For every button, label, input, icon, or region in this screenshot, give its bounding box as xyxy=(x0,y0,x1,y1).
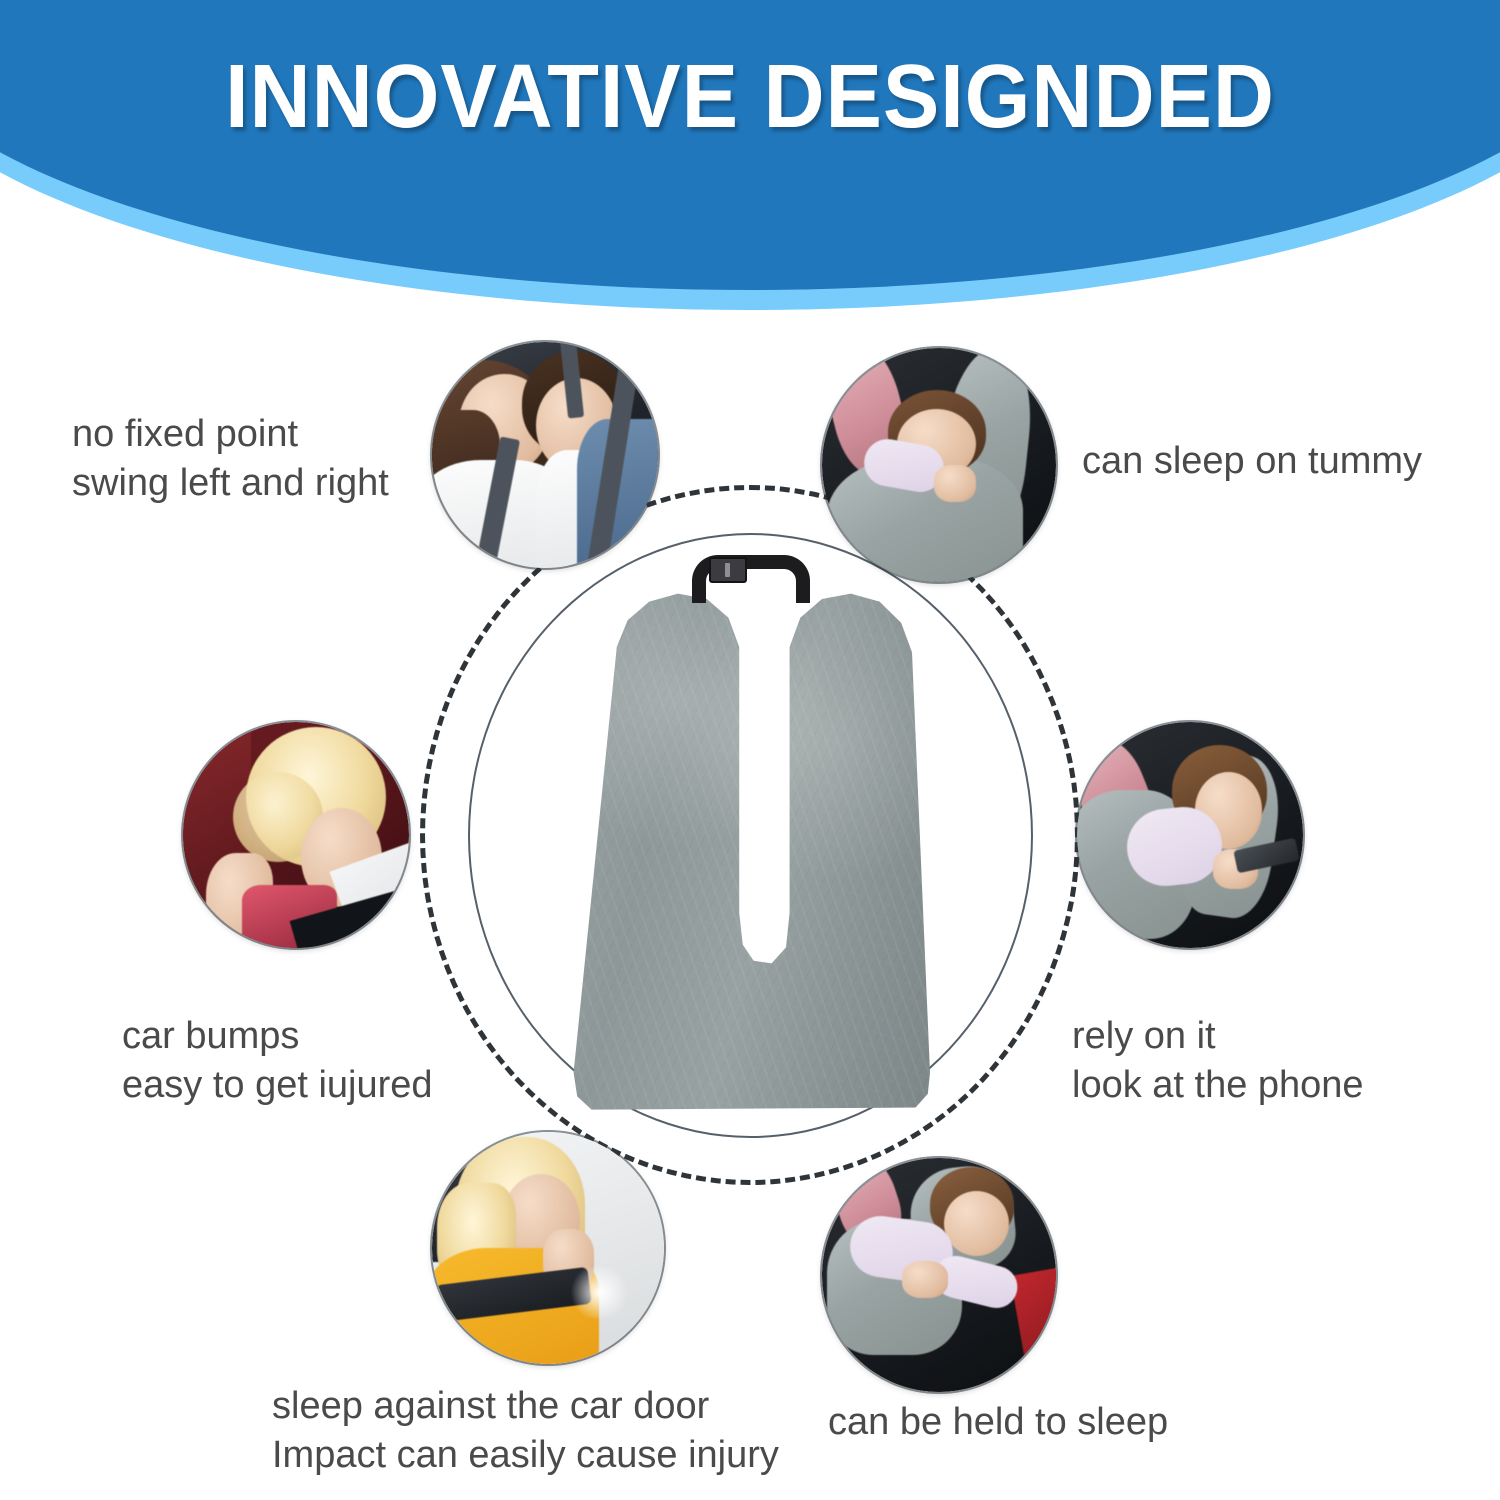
pillow-body xyxy=(570,583,930,1115)
callout-label-sleep-against-car-door: sleep against the car door Impact can ea… xyxy=(272,1382,812,1481)
girl-using-phone-on-pillow-photo: girl resting on gray pillow while lookin… xyxy=(1077,722,1303,948)
product-pillow-image xyxy=(570,555,930,1115)
girl-hugging-pillow-asleep-photo: girl hugging gray pillow while asleep in… xyxy=(822,1158,1056,1392)
girl-leaning-on-window-photo: girl in yellow shirt leaning against veh… xyxy=(432,1132,664,1364)
callout-label-car-bumps: car bumps easy to get iujured xyxy=(122,1012,542,1111)
callout-label-can-be-held-to-sleep: can be held to sleep xyxy=(828,1398,1228,1447)
callout-label-rely-on-it: rely on it look at the phone xyxy=(1072,1012,1472,1111)
header-banner: INNOVATIVE DESIGNDED xyxy=(0,0,1500,340)
pillow-strap-buckle xyxy=(709,557,747,583)
girl-sleeping-on-tummy-photo: girl sleeping face down on gray pillow i… xyxy=(822,348,1056,582)
blonde-girl-slumped-asleep-photo: blonde curly haired girl slumped asleep … xyxy=(183,722,409,948)
callout-label-no-fixed-point: no fixed point swing left and right xyxy=(72,410,472,509)
callout-label-sleep-on-tummy: can sleep on tummy xyxy=(1082,437,1472,486)
page-title: INNOVATIVE DESIGNDED xyxy=(45,52,1455,142)
